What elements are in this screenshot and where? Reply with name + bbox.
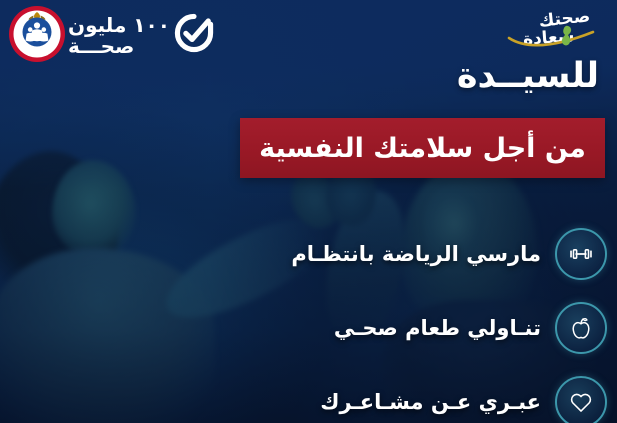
hundred-million-line1: ١٠٠ مليون — [68, 15, 170, 35]
tip-row-healthy-food: تنـاولي طعام صحـي — [291, 302, 607, 354]
tip-label-healthy-food: تنـاولي طعام صحـي — [334, 316, 541, 340]
tip-label-exercise: مارسي الرياضة بانتظـام — [291, 242, 541, 266]
check-circle-icon — [174, 13, 214, 57]
tip-label-express-feelings: عبـري عـن مشـاعـرك — [320, 390, 541, 414]
tips-list: مارسي الرياضة بانتظـام تنـاولي طعام صحـي… — [291, 228, 607, 423]
hundred-million-health-logo: ١٠٠ مليون صحـــة — [68, 10, 200, 60]
svg-text:وزارة الصحة: وزارة الصحة — [26, 52, 49, 57]
dumbbell-icon — [555, 228, 607, 280]
banner-text: من أجل سلامتك النفسية — [259, 133, 586, 164]
sehatak-saada-logo: صحتك سعادة — [495, 2, 603, 54]
tip-row-express-feelings: عبـري عـن مشـاعـرك — [291, 376, 607, 423]
health-campaign-poster: وزارة الصحة ١٠٠ مليون صحـــة صحتك سعادة — [0, 0, 617, 423]
egypt-ministry-of-health-logo: وزارة الصحة — [8, 5, 66, 63]
tip-row-exercise: مارسي الرياضة بانتظـام — [291, 228, 607, 280]
page-title: للسيــدة — [457, 56, 599, 96]
apple-icon — [555, 302, 607, 354]
hundred-million-line2: صحـــة — [68, 36, 134, 56]
hundred-million-wordmark: ١٠٠ مليون صحـــة — [68, 15, 170, 56]
banner-mental-wellbeing: من أجل سلامتك النفسية — [240, 118, 605, 178]
heart-icon — [555, 376, 607, 423]
